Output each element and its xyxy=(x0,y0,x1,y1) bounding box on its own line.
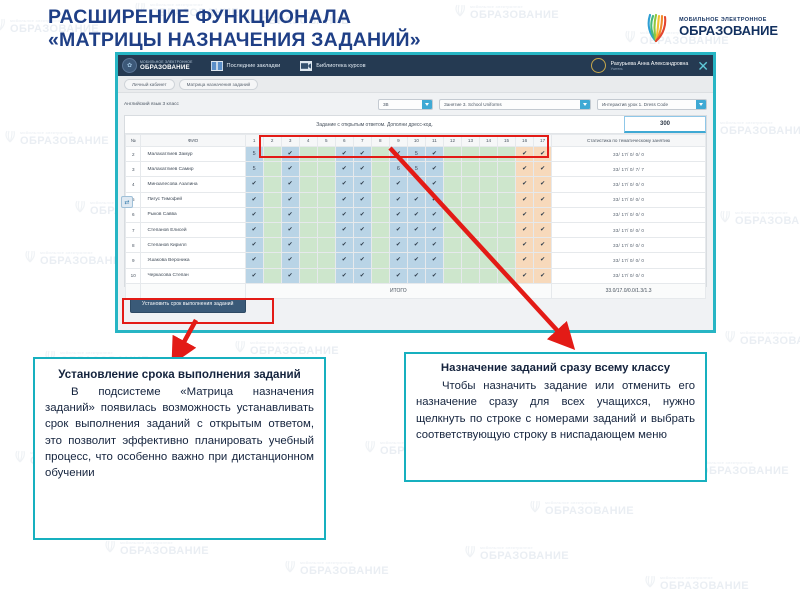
cell-task-1[interactable]: 5 xyxy=(245,147,263,162)
cell-task-10[interactable]: 5 xyxy=(407,162,425,177)
matrix-table: № ФИО 1234567891011121314151617Статистик… xyxy=(125,134,706,299)
check-icon: ✔ xyxy=(432,166,437,172)
cell-task-17[interactable]: ✔ xyxy=(534,147,552,162)
cell-task-13[interactable] xyxy=(461,177,479,192)
table-row[interactable]: 5Пигус Тимофей✔✔✔✔✔✔✔✔✔33/ 17/ 0/ 0/ 0 xyxy=(126,192,706,207)
header-task-14[interactable]: 14 xyxy=(480,135,498,147)
cell-task-16[interactable]: ✔ xyxy=(516,192,534,207)
chevron-down-icon xyxy=(580,100,590,109)
watermark-text: мобильное электронноеОБРАЗОВАНИЕ xyxy=(250,340,339,357)
check-icon: ✔ xyxy=(252,181,257,187)
cell-task-17[interactable]: ✔ xyxy=(534,177,552,192)
cell-task-16[interactable]: ✔ xyxy=(516,268,534,283)
breadcrumb-item-matrix[interactable]: Матрица назначения заданий xyxy=(179,79,259,90)
cell-task-17[interactable]: ✔ xyxy=(534,207,552,222)
table-row[interactable]: 10Черкасова Степан✔✔✔✔✔✔✔✔✔33/ 17/ 0/ 0/… xyxy=(126,268,706,283)
row-statistics: 33/ 17/ 0/ 0/ 0 xyxy=(552,147,706,162)
cell-task-13[interactable] xyxy=(461,238,479,253)
cell-task-6[interactable]: ✔ xyxy=(335,207,353,222)
cell-task-16[interactable]: ✔ xyxy=(516,253,534,268)
nav-item-course-library[interactable]: Библиотека курсов xyxy=(300,61,365,71)
cell-task-6[interactable]: ✔ xyxy=(335,268,353,283)
cell-task-16[interactable]: ✔ xyxy=(516,207,534,222)
check-icon: ✔ xyxy=(360,242,365,248)
cell-task-12[interactable] xyxy=(443,222,461,237)
cell-task-14[interactable] xyxy=(480,192,498,207)
cell-task-11[interactable]: ✔ xyxy=(425,238,443,253)
user-role: Учитель xyxy=(611,67,689,71)
cell-task-11[interactable]: ✔ xyxy=(425,192,443,207)
cell-task-9[interactable]: ✔ xyxy=(389,253,407,268)
cell-task-5[interactable] xyxy=(317,238,335,253)
check-icon: ✔ xyxy=(540,197,545,203)
cell-task-15[interactable] xyxy=(498,268,516,283)
row-num: 6 xyxy=(126,207,141,222)
cell-task-15[interactable] xyxy=(498,222,516,237)
cell-task-6[interactable]: ✔ xyxy=(335,147,353,162)
lesson-select[interactable]: Занятие 3. School Uniforms xyxy=(439,99,591,110)
cell-task-15[interactable] xyxy=(498,192,516,207)
leaf-logo-icon xyxy=(640,12,672,42)
row-student-name: Пигус Тимофей xyxy=(141,192,245,207)
cell-task-7[interactable]: ✔ xyxy=(353,147,371,162)
cell-task-1[interactable]: ✔ xyxy=(245,222,263,237)
check-icon: ✔ xyxy=(288,197,293,203)
cell-task-1[interactable]: ✔ xyxy=(245,192,263,207)
cell-task-14[interactable] xyxy=(480,207,498,222)
cell-task-5[interactable] xyxy=(317,177,335,192)
cell-task-1[interactable]: ✔ xyxy=(245,207,263,222)
row-student-name: Черкасова Степан xyxy=(141,268,245,283)
class-label: Английский язык 3 класс xyxy=(124,102,179,107)
check-icon: ✔ xyxy=(540,212,545,218)
cell-task-4[interactable] xyxy=(299,207,317,222)
cell-task-11[interactable]: ✔ xyxy=(425,268,443,283)
score-box[interactable]: 300 xyxy=(624,116,706,133)
cell-task-2[interactable] xyxy=(263,268,281,283)
check-icon: ✔ xyxy=(396,273,401,279)
watermark-leaf-icon xyxy=(722,329,738,343)
watermark-leaf-icon xyxy=(72,199,88,213)
check-icon: ✔ xyxy=(288,181,293,187)
cell-task-16[interactable]: ✔ xyxy=(516,147,534,162)
check-icon: ✔ xyxy=(414,257,419,263)
cell-task-15[interactable] xyxy=(498,177,516,192)
cell-task-4[interactable] xyxy=(299,162,317,177)
cell-task-15[interactable] xyxy=(498,162,516,177)
cell-task-12[interactable] xyxy=(443,268,461,283)
cell-task-12[interactable] xyxy=(443,207,461,222)
video-icon xyxy=(300,61,312,71)
total-stat: 33.0/17.0/0.0/1.3/1.3 xyxy=(552,283,706,298)
brand-big-text: ОБРАЗОВАНИЕ xyxy=(679,24,778,38)
header-task-16[interactable]: 16 xyxy=(516,135,534,147)
cell-task-16[interactable]: ✔ xyxy=(516,222,534,237)
header-task-6[interactable]: 6 xyxy=(335,135,353,147)
row-student-name: Степанов Елисей xyxy=(141,222,245,237)
watermark-leaf-icon xyxy=(2,129,18,143)
watermark-leaf-icon xyxy=(452,3,468,17)
header-task-5[interactable]: 5 xyxy=(317,135,335,147)
check-icon: ✔ xyxy=(342,197,347,203)
watermark-text: мобильное электронноеОБРАЗОВАНИЕ xyxy=(735,210,800,227)
cell-task-2[interactable] xyxy=(263,177,281,192)
check-icon: ✔ xyxy=(252,242,257,248)
cell-task-10[interactable]: ✔ xyxy=(407,238,425,253)
table-row[interactable]: 9Ушакова Вероника✔✔✔✔✔✔✔✔✔33/ 17/ 0/ 0/ … xyxy=(126,253,706,268)
watermark-leaf-icon xyxy=(12,449,28,463)
cell-task-8[interactable] xyxy=(371,238,389,253)
cell-task-3[interactable]: ✔ xyxy=(281,207,299,222)
filter-bar: Английский язык 3 класс 3В Занятие 3. Sc… xyxy=(118,93,713,115)
table-row[interactable]: 4Минзалесова Азалина✔✔✔✔✔✔✔✔33/ 17/ 0/ 0… xyxy=(126,177,706,192)
cell-task-1[interactable]: ✔ xyxy=(245,268,263,283)
cell-task-17[interactable]: ✔ xyxy=(534,192,552,207)
cell-task-8[interactable] xyxy=(371,162,389,177)
cell-task-15[interactable] xyxy=(498,147,516,162)
check-icon: ✔ xyxy=(414,242,419,248)
row-num: 4 xyxy=(126,177,141,192)
cell-task-14[interactable] xyxy=(480,177,498,192)
callout-left: Установление срока выполнения заданий В … xyxy=(33,357,326,540)
group-select[interactable]: 3В xyxy=(378,99,433,110)
check-icon: ✔ xyxy=(342,273,347,279)
cell-task-8[interactable] xyxy=(371,177,389,192)
cell-task-17[interactable]: ✔ xyxy=(534,162,552,177)
cell-task-11[interactable]: ✔ xyxy=(425,177,443,192)
check-icon: ✔ xyxy=(432,257,437,263)
row-num: 3 xyxy=(126,162,141,177)
cell-task-11[interactable]: ✔ xyxy=(425,207,443,222)
watermark-text: мобильное электронноеОБРАЗОВАНИЕ xyxy=(740,330,800,347)
cell-task-9[interactable]: ✔ xyxy=(389,207,407,222)
resize-handle-icon[interactable]: ⇄ xyxy=(121,196,133,208)
row-statistics: 33/ 17/ 0/ 0/ 0 xyxy=(552,222,706,237)
cell-task-8[interactable] xyxy=(371,222,389,237)
cell-task-7[interactable]: ✔ xyxy=(353,207,371,222)
header-task-15[interactable]: 15 xyxy=(498,135,516,147)
cell-task-7[interactable]: ✔ xyxy=(353,268,371,283)
cell-task-6[interactable]: ✔ xyxy=(335,222,353,237)
book-icon xyxy=(211,61,223,71)
cell-task-2[interactable] xyxy=(263,238,281,253)
cell-task-7[interactable]: ✔ xyxy=(353,222,371,237)
breadcrumb: Личный кабинет Матрица назначения задани… xyxy=(118,76,713,93)
row-student-name: Степанов Кирилл xyxy=(141,238,245,253)
cell-task-10[interactable]: ✔ xyxy=(407,268,425,283)
check-icon: ✔ xyxy=(342,242,347,248)
cell-task-7[interactable]: ✔ xyxy=(353,238,371,253)
cell-task-1[interactable]: ✔ xyxy=(245,238,263,253)
check-icon: ✔ xyxy=(360,212,365,218)
check-icon: ✔ xyxy=(396,197,401,203)
check-icon: ✔ xyxy=(342,212,347,218)
nav-item-course-library-label: Библиотека курсов xyxy=(316,63,365,69)
cell-task-10[interactable]: ✔ xyxy=(407,222,425,237)
cell-task-14[interactable] xyxy=(480,268,498,283)
cell-score: 5 xyxy=(253,151,256,157)
cell-task-8[interactable] xyxy=(371,207,389,222)
cell-task-8[interactable] xyxy=(371,147,389,162)
table-row[interactable]: 3Малахатлиев Самир5✔✔✔65✔✔✔33/ 17/ 0/ 7/… xyxy=(126,162,706,177)
matrix-table-body: 2Малахатлиев Замур5✔✔✔✔5✔✔✔33/ 17/ 0/ 0/… xyxy=(126,147,706,284)
watermark-text: мобильное электронноеОБРАЗОВАНИЕ xyxy=(470,4,559,21)
cell-task-10[interactable]: ✔ xyxy=(407,192,425,207)
table-row[interactable]: 7Степанов Елисей✔✔✔✔✔✔✔✔✔33/ 17/ 0/ 0/ 0 xyxy=(126,222,706,237)
watermark-text: мобильное электронноеОБРАЗОВАНИЕ xyxy=(20,130,109,147)
cell-task-5[interactable] xyxy=(317,147,335,162)
cell-task-3[interactable]: ✔ xyxy=(281,253,299,268)
check-icon: ✔ xyxy=(288,273,293,279)
check-icon: ✔ xyxy=(522,257,527,263)
header-task-17[interactable]: 17 xyxy=(534,135,552,147)
cell-task-12[interactable] xyxy=(443,147,461,162)
cell-task-17[interactable]: ✔ xyxy=(534,268,552,283)
check-icon: ✔ xyxy=(396,227,401,233)
cell-task-11[interactable]: ✔ xyxy=(425,147,443,162)
cell-task-4[interactable] xyxy=(299,253,317,268)
cell-task-14[interactable] xyxy=(480,238,498,253)
chevron-down-icon xyxy=(696,100,706,109)
cell-task-16[interactable]: ✔ xyxy=(516,177,534,192)
cell-task-9[interactable]: ✔ xyxy=(389,147,407,162)
cell-task-15[interactable] xyxy=(498,238,516,253)
cell-task-10[interactable]: ✔ xyxy=(407,207,425,222)
cell-task-4[interactable] xyxy=(299,268,317,283)
cell-task-13[interactable] xyxy=(461,162,479,177)
check-icon: ✔ xyxy=(396,242,401,248)
cell-task-15[interactable] xyxy=(498,253,516,268)
check-icon: ✔ xyxy=(414,227,419,233)
cell-task-11[interactable]: ✔ xyxy=(425,222,443,237)
check-icon: ✔ xyxy=(432,212,437,218)
header-task-3[interactable]: 3 xyxy=(281,135,299,147)
cell-task-7[interactable]: ✔ xyxy=(353,177,371,192)
header-task-1[interactable]: 1 xyxy=(245,135,263,147)
check-icon: ✔ xyxy=(360,197,365,203)
breadcrumb-item-cabinet[interactable]: Личный кабинет xyxy=(124,79,175,90)
cell-task-5[interactable] xyxy=(317,268,335,283)
cell-task-5[interactable] xyxy=(317,222,335,237)
check-icon: ✔ xyxy=(432,197,437,203)
header-num: № xyxy=(126,135,141,147)
cell-task-5[interactable] xyxy=(317,207,335,222)
header-task-4[interactable]: 4 xyxy=(299,135,317,147)
cell-task-12[interactable] xyxy=(443,238,461,253)
cell-task-14[interactable] xyxy=(480,147,498,162)
cell-task-9[interactable]: ✔ xyxy=(389,192,407,207)
cell-task-2[interactable] xyxy=(263,162,281,177)
cell-task-12[interactable] xyxy=(443,192,461,207)
cell-task-5[interactable] xyxy=(317,192,335,207)
cell-task-7[interactable]: ✔ xyxy=(353,162,371,177)
header-task-10[interactable]: 10 xyxy=(407,135,425,147)
cell-task-3[interactable]: ✔ xyxy=(281,162,299,177)
cell-task-6[interactable]: ✔ xyxy=(335,162,353,177)
cell-task-17[interactable]: ✔ xyxy=(534,253,552,268)
user-name: Рахурьева Анна Александровна xyxy=(611,61,689,67)
cell-task-9[interactable]: 6 xyxy=(389,162,407,177)
cell-task-2[interactable] xyxy=(263,147,281,162)
callout-right-body: Чтобы назначить задание или отменить его… xyxy=(416,378,695,444)
nav-item-bookmarks[interactable]: Последние закладки xyxy=(211,61,281,71)
row-student-name: Минзалесова Азалина xyxy=(141,177,245,192)
cell-task-14[interactable] xyxy=(480,162,498,177)
check-icon: ✔ xyxy=(342,257,347,263)
watermark-text: мобильное электронноеОБРАЗОВАНИЕ xyxy=(480,545,569,562)
cell-task-5[interactable] xyxy=(317,162,335,177)
cell-task-17[interactable]: ✔ xyxy=(534,222,552,237)
cell-task-14[interactable] xyxy=(480,222,498,237)
cell-task-2[interactable] xyxy=(263,207,281,222)
cell-task-16[interactable]: ✔ xyxy=(516,162,534,177)
cell-task-15[interactable] xyxy=(498,207,516,222)
cell-task-8[interactable] xyxy=(371,192,389,207)
check-icon: ✔ xyxy=(432,227,437,233)
cell-task-10[interactable]: 5 xyxy=(407,147,425,162)
row-student-name: Малахатлиев Замур xyxy=(141,147,245,162)
cell-task-10[interactable]: ✔ xyxy=(407,253,425,268)
cell-task-9[interactable]: ✔ xyxy=(389,177,407,192)
cell-task-3[interactable]: ✔ xyxy=(281,222,299,237)
cell-task-4[interactable] xyxy=(299,192,317,207)
check-icon: ✔ xyxy=(540,181,545,187)
cell-task-11[interactable]: ✔ xyxy=(425,253,443,268)
table-row[interactable]: 2Малахатлиев Замур5✔✔✔✔5✔✔✔33/ 17/ 0/ 0/… xyxy=(126,147,706,162)
watermark-leaf-icon xyxy=(622,29,638,43)
check-icon: ✔ xyxy=(414,273,419,279)
header-task-11[interactable]: 11 xyxy=(425,135,443,147)
row-student-name: Рыков Савва xyxy=(141,207,245,222)
check-icon: ✔ xyxy=(432,273,437,279)
cell-task-6[interactable]: ✔ xyxy=(335,238,353,253)
assignment-matrix: Задание с открытым ответом. Дополни дрес… xyxy=(124,115,707,287)
header-task-13[interactable]: 13 xyxy=(461,135,479,147)
cell-task-9[interactable]: ✔ xyxy=(389,238,407,253)
cell-task-2[interactable] xyxy=(263,192,281,207)
total-row: ИТОГО 33.0/17.0/0.0/1.3/1.3 xyxy=(126,283,706,298)
check-icon: ✔ xyxy=(522,181,527,187)
cell-task-4[interactable] xyxy=(299,177,317,192)
cell-task-3[interactable]: ✔ xyxy=(281,268,299,283)
cell-task-8[interactable] xyxy=(371,253,389,268)
cell-score: 5 xyxy=(253,166,256,172)
check-icon: ✔ xyxy=(252,212,257,218)
cell-task-6[interactable]: ✔ xyxy=(335,192,353,207)
page-title-line1: РАСШИРЕНИЕ ФУНКЦИОНАЛА xyxy=(48,6,421,29)
check-icon: ✔ xyxy=(342,227,347,233)
cell-task-13[interactable] xyxy=(461,222,479,237)
cell-task-17[interactable]: ✔ xyxy=(534,238,552,253)
app-logo[interactable]: ✿ МОБИЛЬНОЕ ЭЛЕКТРОННОЕ ОБРАЗОВАНИЕ xyxy=(122,58,193,73)
cell-task-13[interactable] xyxy=(461,253,479,268)
cell-task-9[interactable]: ✔ xyxy=(389,268,407,283)
close-icon[interactable]: ✕ xyxy=(697,59,709,73)
cell-task-14[interactable] xyxy=(480,253,498,268)
watermark-leaf-icon xyxy=(642,574,658,588)
cell-task-13[interactable] xyxy=(461,268,479,283)
cell-task-3[interactable]: ✔ xyxy=(281,238,299,253)
check-icon: ✔ xyxy=(288,166,293,172)
interactive-select[interactable]: Интерактив урок 1. Dress Code xyxy=(597,99,707,110)
check-icon: ✔ xyxy=(360,151,365,157)
row-statistics: 33/ 17/ 0/ 7/ 7 xyxy=(552,162,706,177)
cell-task-3[interactable]: ✔ xyxy=(281,192,299,207)
check-icon: ✔ xyxy=(432,181,437,187)
header-task-12[interactable]: 12 xyxy=(443,135,461,147)
table-row[interactable]: 6Рыков Савва✔✔✔✔✔✔✔✔✔33/ 17/ 0/ 0/ 0 xyxy=(126,207,706,222)
cell-task-12[interactable] xyxy=(443,253,461,268)
cell-task-1[interactable]: ✔ xyxy=(245,177,263,192)
total-label-cell xyxy=(141,283,245,298)
app-top-bar: ✿ МОБИЛЬНОЕ ЭЛЕКТРОННОЕ ОБРАЗОВАНИЕ Посл… xyxy=(118,55,713,76)
cell-task-2[interactable] xyxy=(263,222,281,237)
cell-task-7[interactable]: ✔ xyxy=(353,253,371,268)
cell-task-4[interactable] xyxy=(299,238,317,253)
matrix-header-row[interactable]: № ФИО 1234567891011121314151617Статистик… xyxy=(126,135,706,147)
interactive-select-value: Интерактив урок 1. Dress Code xyxy=(598,102,672,107)
check-icon: ✔ xyxy=(360,273,365,279)
check-icon: ✔ xyxy=(540,273,545,279)
check-icon: ✔ xyxy=(360,181,365,187)
check-icon: ✔ xyxy=(288,212,293,218)
cell-task-13[interactable] xyxy=(461,147,479,162)
table-row[interactable]: 8Степанов Кирилл✔✔✔✔✔✔✔✔✔33/ 17/ 0/ 0/ 0 xyxy=(126,238,706,253)
cell-task-11[interactable]: ✔ xyxy=(425,162,443,177)
cell-task-4[interactable] xyxy=(299,222,317,237)
cell-task-12[interactable] xyxy=(443,177,461,192)
check-icon: ✔ xyxy=(360,257,365,263)
header-task-9[interactable]: 9 xyxy=(389,135,407,147)
check-icon: ✔ xyxy=(360,227,365,233)
check-icon: ✔ xyxy=(252,257,257,263)
cell-task-6[interactable]: ✔ xyxy=(335,177,353,192)
check-icon: ✔ xyxy=(522,212,527,218)
cell-task-16[interactable]: ✔ xyxy=(516,238,534,253)
check-icon: ✔ xyxy=(522,166,527,172)
cell-task-12[interactable] xyxy=(443,162,461,177)
check-icon: ✔ xyxy=(414,197,419,203)
cell-task-10[interactable] xyxy=(407,177,425,192)
callout-right: Назначение заданий сразу всему классу Чт… xyxy=(404,352,707,482)
cell-task-13[interactable] xyxy=(461,207,479,222)
cell-task-7[interactable]: ✔ xyxy=(353,192,371,207)
group-select-value: 3В xyxy=(379,102,393,107)
header-task-2[interactable]: 2 xyxy=(263,135,281,147)
cell-task-4[interactable] xyxy=(299,147,317,162)
watermark-leaf-icon xyxy=(102,539,118,553)
cell-task-2[interactable] xyxy=(263,253,281,268)
cell-task-8[interactable] xyxy=(371,268,389,283)
header-task-8[interactable]: 8 xyxy=(371,135,389,147)
header-task-7[interactable]: 7 xyxy=(353,135,371,147)
cell-task-13[interactable] xyxy=(461,192,479,207)
task-header-row: Задание с открытым ответом. Дополни дрес… xyxy=(125,116,706,134)
cell-task-9[interactable]: ✔ xyxy=(389,222,407,237)
cell-task-6[interactable]: ✔ xyxy=(335,253,353,268)
cell-task-3[interactable]: ✔ xyxy=(281,177,299,192)
cell-task-1[interactable]: 5 xyxy=(245,162,263,177)
row-student-name: Малахатлиев Самир xyxy=(141,162,245,177)
user-area[interactable]: Рахурьева Анна Александровна Учитель ✕ xyxy=(591,58,709,73)
cell-task-1[interactable]: ✔ xyxy=(245,253,263,268)
cell-task-3[interactable]: ✔ xyxy=(281,147,299,162)
watermark-text: мобильное электронноеОБРАЗОВАНИЕ xyxy=(720,120,800,137)
check-icon: ✔ xyxy=(522,227,527,233)
check-icon: ✔ xyxy=(288,257,293,263)
cell-task-5[interactable] xyxy=(317,253,335,268)
watermark-leaf-icon xyxy=(232,339,248,353)
